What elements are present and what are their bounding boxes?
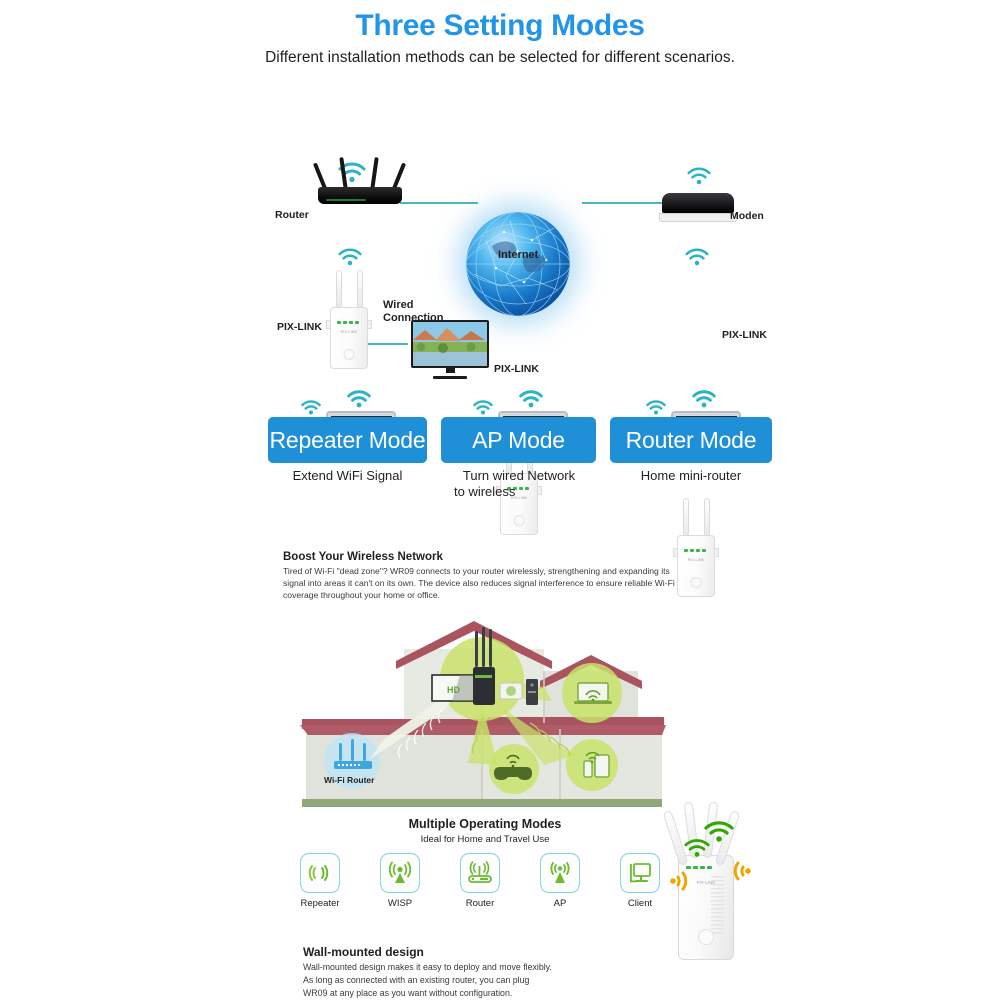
mode-caption-ap-line1: Turn wired Network (438, 468, 600, 484)
tv-device (411, 320, 489, 379)
extender-device-left: PIX-LINK (330, 307, 368, 369)
hero-title: Three Setting Modes (0, 0, 1000, 43)
hero-subtitle: Different installation methods can be se… (0, 49, 1000, 67)
router-device-icon (460, 853, 500, 893)
connector-router-internet (400, 202, 478, 204)
operating-mode-label: Repeater (300, 898, 340, 909)
operating-mode-repeater[interactable]: Repeater (300, 853, 340, 909)
operating-mode-label: WISP (380, 898, 420, 909)
label-modem: Moden (730, 210, 764, 222)
monitor-icon (620, 853, 660, 893)
wifi-icon-modem (686, 167, 712, 185)
operating-modes-row: Repeater WISP (300, 853, 660, 909)
operating-modes-subheading: Ideal for Home and Travel Use (300, 834, 670, 845)
label-internet: Internet (498, 249, 538, 261)
operating-modes-heading: Multiple Operating Modes (300, 817, 670, 831)
wall-mounted-body: Wall-mounted design makes it easy to dep… (303, 961, 553, 999)
lower-panel: Boost Your Wireless Network Tired of Wi-… (0, 505, 1000, 985)
mode-button-repeater[interactable]: Repeater Mode (268, 417, 427, 463)
broadcast-tower-icon (380, 853, 420, 893)
access-point-icon (540, 853, 580, 893)
operating-mode-wisp[interactable]: WISP (380, 853, 420, 909)
house-router-label: Wi-Fi Router (324, 775, 375, 785)
operating-mode-label: Router (460, 898, 500, 909)
label-pixlink-center: PIX-LINK (494, 363, 539, 375)
wired-line-1: Wired (383, 299, 444, 312)
connector-internet-modem (582, 202, 664, 204)
label-pixlink-left: PIX-LINK (277, 321, 322, 333)
wall-mounted-heading: Wall-mounted design (303, 945, 424, 959)
wifi-icon-extender-left (337, 248, 363, 266)
connector-extender-tv (364, 343, 408, 345)
operating-mode-label: Client (620, 898, 660, 909)
wifi-icon-extender-right (684, 248, 710, 266)
label-pixlink-right: PIX-LINK (722, 329, 767, 341)
mode-caption-router: Home mini-router (610, 468, 772, 484)
signal-arcs-icon (300, 853, 340, 893)
house-tv-label: HD (447, 685, 460, 695)
mode-button-router[interactable]: Router Mode (610, 417, 772, 463)
mode-caption-ap-line2: to wireless (438, 484, 600, 500)
mode-buttons-row: Repeater Mode Extend WiFi Signal AP Mode… (0, 405, 1000, 505)
mode-caption-ap: Turn wired Network to wireless (438, 468, 600, 499)
boost-heading: Boost Your Wireless Network (283, 551, 443, 563)
operating-mode-label: AP (540, 898, 580, 909)
wifi-icon-wall-device-orange-left (665, 870, 691, 897)
boost-body: Tired of Wi-Fi "dead zone"? WR09 connect… (283, 565, 681, 602)
label-router: Router (275, 209, 309, 221)
house-laptop (574, 683, 612, 704)
mode-caption-repeater: Extend WiFi Signal (268, 468, 427, 484)
modem-device (662, 193, 737, 222)
wifi-icon-wall-device-orange-right (730, 860, 756, 887)
house-extender (473, 627, 495, 705)
operating-mode-ap[interactable]: AP (540, 853, 580, 909)
mode-button-ap[interactable]: AP Mode (441, 417, 596, 463)
operating-mode-client[interactable]: Client (620, 853, 660, 909)
operating-mode-router[interactable]: Router (460, 853, 500, 909)
internet-globe (466, 212, 570, 316)
wifi-icon-wall-device-green-2 (683, 838, 711, 862)
router-device (318, 187, 402, 204)
house-illustration: HD (292, 613, 712, 818)
setup-diagram: Router PIX-LINK PIX-LINK (0, 75, 1000, 405)
